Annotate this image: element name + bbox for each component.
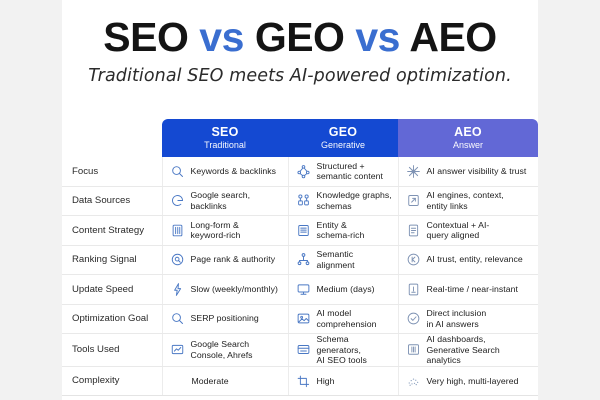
cell-text: Structured +semantic content [317, 161, 383, 182]
window-panel-icon [296, 342, 311, 357]
row-label: Tools Used [62, 334, 162, 367]
cell-text: Medium (days) [317, 284, 375, 295]
cell-text: Knowledge graphs,schemas [317, 190, 392, 211]
cell-seo: Keywords & backlinks [162, 157, 288, 186]
cell-text: High [317, 376, 335, 387]
cell-text: Moderate [192, 376, 229, 387]
cell-seo: Page rank & authority [162, 245, 288, 275]
lightning-bolt-icon [170, 282, 185, 297]
row-label: Update Speed [62, 275, 162, 305]
table-body: FocusKeywords & backlinksStructured +sem… [62, 157, 538, 396]
cell-seo: Google SearchConsole, Ahrefs [162, 334, 288, 367]
table-row: ComplexityModerateHighVery high, multi-l… [62, 366, 538, 396]
knowledge-graph-icon [296, 193, 311, 208]
cell-text: Slow (weekly/monthly) [191, 284, 278, 295]
cell-text: Page rank & authority [191, 254, 276, 265]
node-graph-icon [296, 164, 311, 179]
cell-text: Semantic alignment [317, 249, 394, 270]
check-circle-icon [406, 311, 421, 326]
comparison-table: SEO Traditional GEO Generative AEO Answe… [62, 119, 538, 396]
infographic-canvas: SEO vs GEO vs AEO Traditional SEO meets … [0, 0, 600, 400]
column-header-geo: GEO Generative [288, 119, 398, 157]
cell-geo: Semantic alignment [288, 245, 398, 275]
cell-text: Direct inclusionin AI answers [427, 308, 487, 329]
table-row: Optimization GoalSERP positioningAI mode… [62, 304, 538, 334]
page-subtitle: Traditional SEO meets AI-powered optimiz… [0, 59, 600, 86]
cell-text: AI modelcomprehension [317, 308, 377, 329]
monitor-icon [296, 282, 311, 297]
image-panel-icon [296, 311, 311, 326]
column-header-geo-name: GEO [288, 125, 398, 139]
dashboard-columns-icon [406, 342, 421, 357]
search-icon [170, 311, 185, 326]
cell-text: Keywords & backlinks [191, 166, 277, 177]
file-clock-icon [406, 282, 421, 297]
title-seo: SEO [103, 14, 188, 60]
crop-frame-icon [296, 374, 311, 389]
header-block: SEO vs GEO vs AEO Traditional SEO meets … [0, 0, 600, 108]
document-grid-icon [296, 223, 311, 238]
cell-aeo: Very high, multi-layered [398, 366, 538, 396]
engine-link-icon [406, 193, 421, 208]
table-row: Update SpeedSlow (weekly/monthly)Medium … [62, 275, 538, 305]
page-title: SEO vs GEO vs AEO [0, 0, 600, 59]
cell-geo: Entity &schema-rich [288, 216, 398, 246]
cell-aeo: AI dashboards,Generative Search analytic… [398, 334, 538, 367]
cell-aeo: Real-time / near-instant [398, 275, 538, 305]
cell-text: Long-form &keyword-rich [191, 220, 241, 241]
hierarchy-icon [296, 252, 311, 267]
cell-geo: Medium (days) [288, 275, 398, 305]
column-header-aeo-name: AEO [398, 125, 538, 139]
cell-geo: Knowledge graphs,schemas [288, 186, 398, 216]
comparison-table-wrapper: SEO Traditional GEO Generative AEO Answe… [62, 119, 538, 396]
column-header-geo-subtitle: Generative [288, 139, 398, 150]
chart-box-icon [170, 342, 185, 357]
table-header-row: SEO Traditional GEO Generative AEO Answe… [62, 119, 538, 157]
column-header-aeo: AEO Answer [398, 119, 538, 157]
cell-text: Real-time / near-instant [427, 284, 519, 295]
cell-aeo: AI engines, context,entity links [398, 186, 538, 216]
row-label: Content Strategy [62, 216, 162, 246]
cell-geo: AI modelcomprehension [288, 304, 398, 334]
cell-seo: SERP positioning [162, 304, 288, 334]
cell-text: AI engines, context,entity links [427, 190, 504, 211]
title-vs-2: vs [355, 14, 400, 60]
cell-geo: Schema generators,AI SEO tools [288, 334, 398, 367]
cell-text: AI trust, entity, relevance [427, 254, 523, 265]
title-geo: GEO [255, 14, 345, 60]
header-blank-corner [62, 119, 162, 157]
document-text-icon [406, 223, 421, 238]
row-label: Optimization Goal [62, 304, 162, 334]
table-row: Content StrategyLong-form &keyword-richE… [62, 216, 538, 246]
table-row: Tools UsedGoogle SearchConsole, AhrefsSc… [62, 334, 538, 367]
row-label: Ranking Signal [62, 245, 162, 275]
sparkle-burst-icon [406, 164, 421, 179]
cell-aeo: AI answer visibility & trust [398, 157, 538, 186]
google-g-icon [170, 193, 185, 208]
row-label: Complexity [62, 366, 162, 396]
document-lines-icon [170, 223, 185, 238]
table-row: Data SourcesGoogle search,backlinksKnowl… [62, 186, 538, 216]
column-header-seo-name: SEO [162, 125, 288, 139]
table-row: FocusKeywords & backlinksStructured +sem… [62, 157, 538, 186]
cell-seo: Long-form &keyword-rich [162, 216, 288, 246]
cell-text: Very high, multi-layered [427, 376, 519, 387]
cell-aeo: Direct inclusionin AI answers [398, 304, 538, 334]
cell-seo: Moderate [162, 366, 288, 396]
column-header-aeo-subtitle: Answer [398, 139, 538, 150]
row-label: Focus [62, 157, 162, 186]
row-label: Data Sources [62, 186, 162, 216]
cell-geo: High [288, 366, 398, 396]
cell-text: Schema generators,AI SEO tools [317, 334, 394, 366]
cell-text: Entity &schema-rich [317, 220, 365, 241]
cell-text: Google search,backlinks [191, 190, 251, 211]
cell-seo: Slow (weekly/monthly) [162, 275, 288, 305]
cell-geo: Structured +semantic content [288, 157, 398, 186]
scatter-dots-icon [406, 374, 421, 389]
table-header: SEO Traditional GEO Generative AEO Answe… [62, 119, 538, 157]
cell-text: AI dashboards,Generative Search analytic… [427, 334, 535, 366]
target-circle-icon [170, 252, 185, 267]
title-vs-1: vs [199, 14, 244, 60]
cell-aeo: Contextual + AI-query aligned [398, 216, 538, 246]
cell-text: AI answer visibility & trust [427, 166, 527, 177]
search-icon [170, 164, 185, 179]
cell-text: Google SearchConsole, Ahrefs [191, 339, 253, 360]
column-header-seo-subtitle: Traditional [162, 139, 288, 150]
cell-text: Contextual + AI-query aligned [427, 220, 490, 241]
cell-text: SERP positioning [191, 313, 259, 324]
cell-aeo: AI trust, entity, relevance [398, 245, 538, 275]
knowledge-badge-icon [406, 252, 421, 267]
column-header-seo: SEO Traditional [162, 119, 288, 157]
table-row: Ranking SignalPage rank & authoritySeman… [62, 245, 538, 275]
title-aeo: AEO [409, 14, 496, 60]
cell-seo: Google search,backlinks [162, 186, 288, 216]
